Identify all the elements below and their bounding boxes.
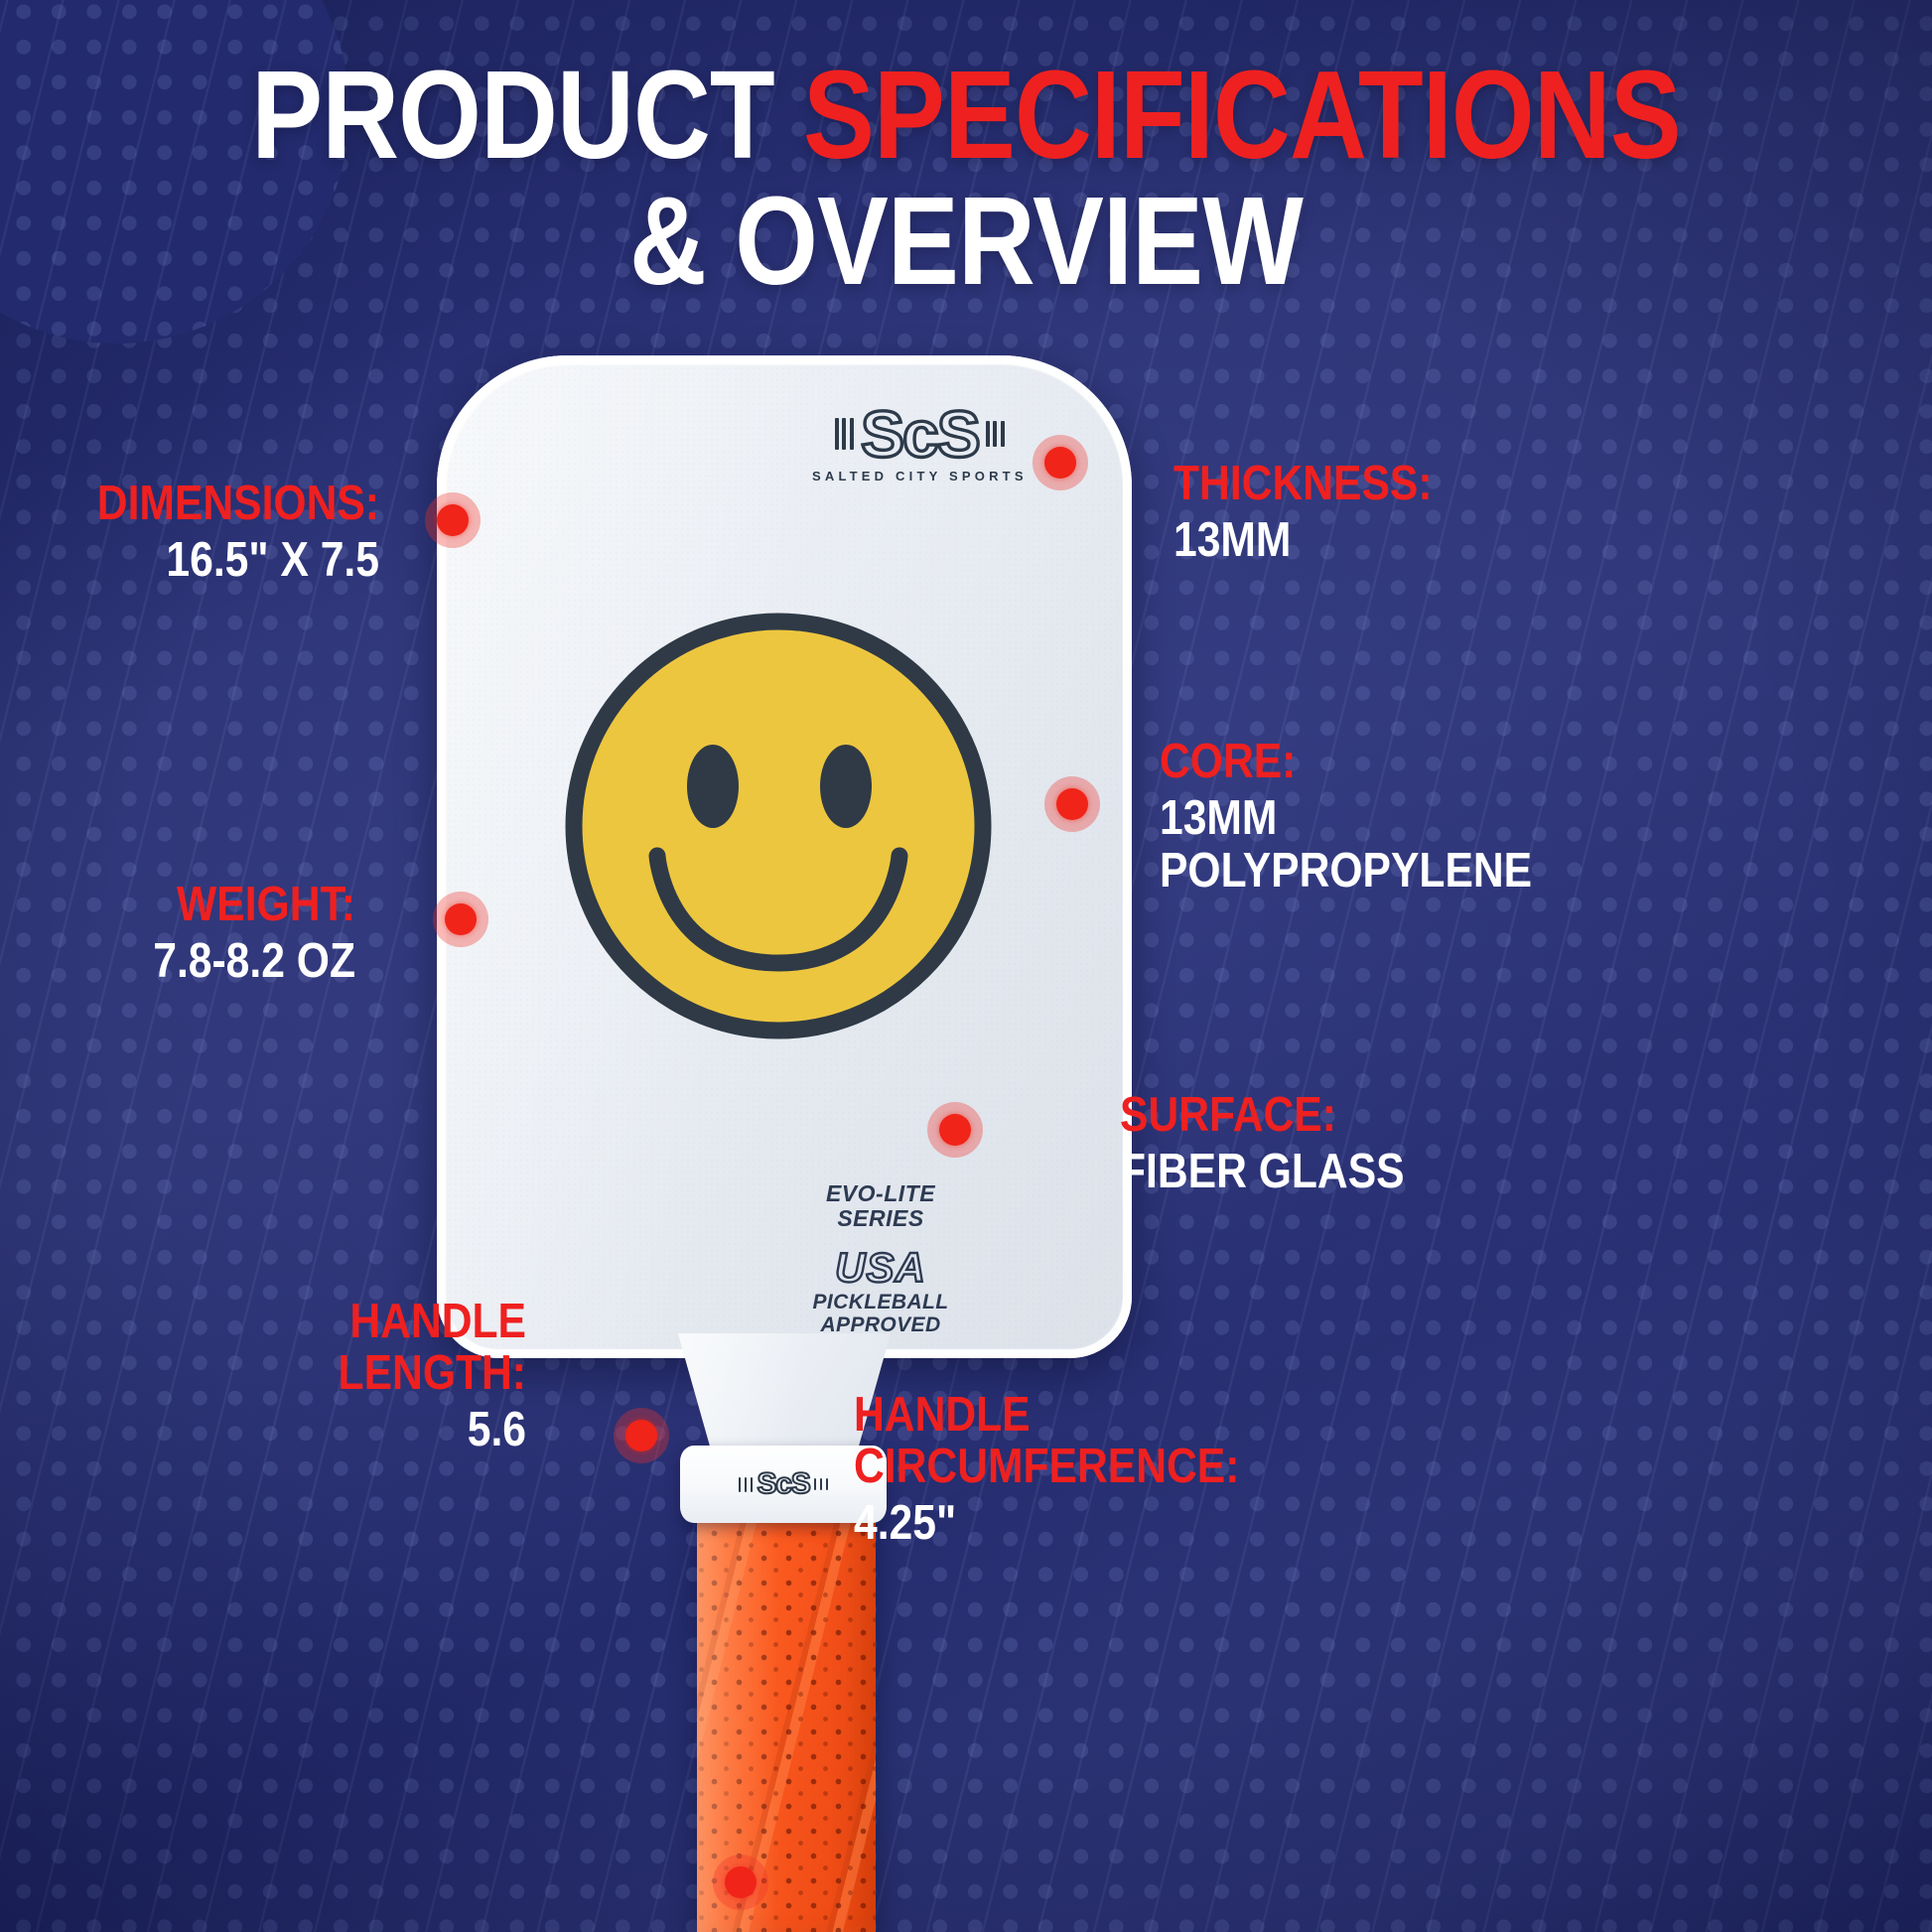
collar-wordmark: ScS [757, 1470, 809, 1499]
spec-handle-length: HANDLE LENGTH: 5.6 [129, 1297, 526, 1456]
spec-core-value: 13MM POLYPROPYLENE [1160, 792, 1816, 897]
smiley-face-graphic [554, 602, 1003, 1050]
title-word-specifications: SPECIFICATIONS [803, 45, 1681, 185]
page-title: PRODUCT SPECIFICATIONS & OVERVIEW [0, 52, 1932, 305]
spec-core: CORE: 13MM POLYPROPYLENE [1160, 737, 1914, 897]
spec-thickness-value: 13MM [1173, 514, 1778, 567]
spec-handle-length-value: 5.6 [181, 1404, 526, 1456]
spec-surface-label: SURFACE: [1120, 1090, 1776, 1142]
collar-speed-lines-right [814, 1478, 829, 1490]
spec-surface: SURFACE: FIBER GLASS [1120, 1090, 1874, 1198]
spec-thickness-label: THICKNESS: [1173, 459, 1778, 510]
spec-thickness: THICKNESS: 13MM [1173, 459, 1868, 567]
logo-wordmark: ScS [861, 403, 979, 466]
spec-surface-value: FIBER GLASS [1120, 1146, 1776, 1198]
spec-weight-label: WEIGHT: [47, 880, 355, 931]
pickleball-paddle-illustration: ScS SALTED CITY SPORTS EVO-LITE SERIES U… [437, 355, 1132, 1932]
marker-dot-weight[interactable] [433, 892, 488, 947]
spec-dimensions-value: 16.5" X 7.5 [50, 534, 379, 587]
spec-core-label: CORE: [1160, 737, 1816, 788]
logo-tagline: SALTED CITY SPORTS [812, 469, 1028, 483]
marker-dot-dimensions[interactable] [425, 492, 481, 548]
paddle-brand-logo: ScS SALTED CITY SPORTS [812, 403, 1028, 483]
collar-speed-lines-left [739, 1477, 754, 1492]
marker-dot-core[interactable] [1044, 776, 1100, 832]
paddle-series-label: EVO-LITE SERIES [786, 1181, 975, 1232]
title-word-product: PRODUCT [251, 45, 803, 185]
spec-handle-circumference-value: 4.25" [854, 1497, 1614, 1550]
logo-speed-lines-right [986, 421, 1005, 447]
approval-sub-text: PICKLEBALL APPROVED [786, 1292, 975, 1336]
logo-speed-lines-left [835, 418, 854, 450]
marker-dot-surface[interactable] [927, 1102, 983, 1158]
title-line-overview: & OVERVIEW [140, 178, 1792, 304]
spec-handle-circumference: HANDLE CIRCUMFERENCE: 4.25" [854, 1390, 1727, 1550]
approval-usa-text: USA [786, 1247, 975, 1289]
spec-dimensions: DIMENSIONS: 16.5" X 7.5 [0, 479, 379, 587]
spec-dimensions-label: DIMENSIONS: [50, 479, 379, 530]
spec-handle-length-label: HANDLE LENGTH: [181, 1297, 526, 1400]
paddle-approval-block: USA PICKLEBALL APPROVED [786, 1247, 975, 1336]
spec-weight: WEIGHT: 7.8-8.2 OZ [0, 880, 355, 988]
spec-handle-circumference-label: HANDLE CIRCUMFERENCE: [854, 1390, 1614, 1493]
infographic-canvas: PRODUCT SPECIFICATIONS & OVERVIEW ScS SA… [0, 0, 1932, 1932]
marker-dot-handle-length[interactable] [614, 1408, 669, 1463]
marker-dot-thickness[interactable] [1033, 435, 1088, 490]
marker-dot-handle-circumference[interactable] [713, 1855, 768, 1910]
spec-weight-value: 7.8-8.2 OZ [47, 935, 355, 988]
